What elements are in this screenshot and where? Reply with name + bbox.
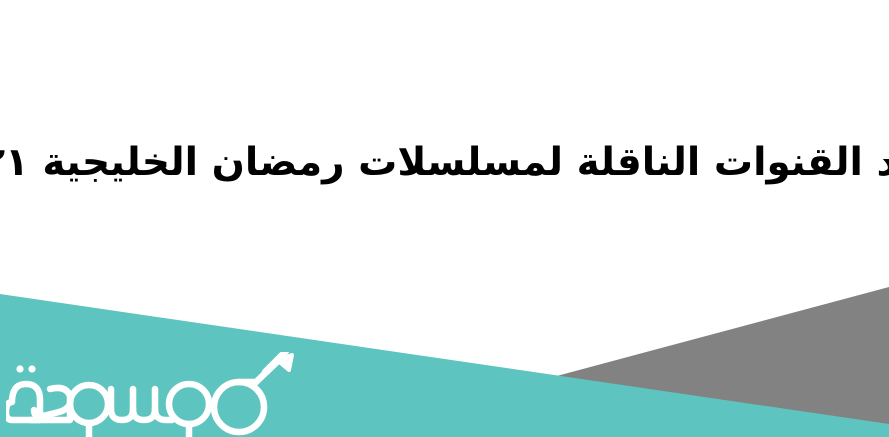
logo-wordmark-strokes [6,352,292,437]
article-banner: تردد القنوات الناقلة لمسلسلات رمضان الخل… [0,0,889,437]
logo-dots [16,365,35,372]
site-logo[interactable]: موسوعة [6,352,298,437]
